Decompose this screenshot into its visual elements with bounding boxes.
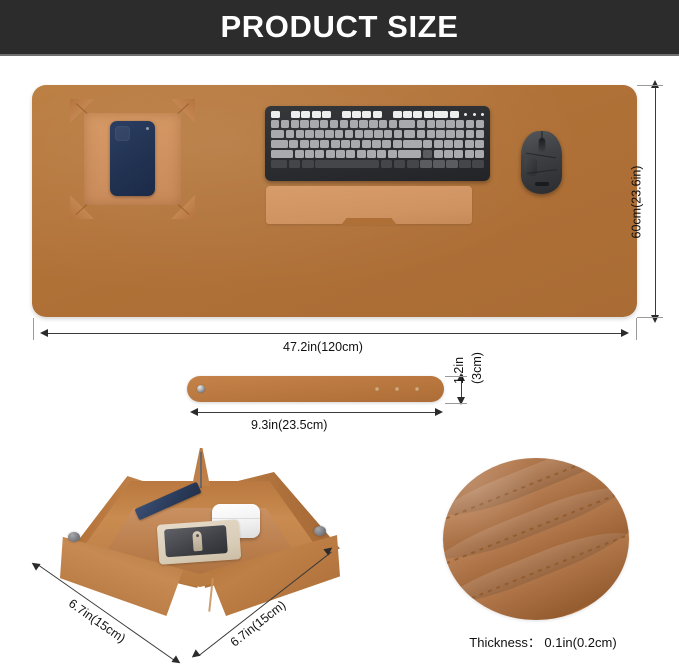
gaming-mouse <box>521 131 562 194</box>
keyboard-led-2 <box>473 113 476 116</box>
deskmat-height-tick-top <box>637 85 663 86</box>
strap-image <box>187 376 444 402</box>
strap-width-label: 9.3in(23.5cm) <box>251 418 327 432</box>
keyboard-home-row <box>271 140 484 148</box>
strap-hole-3 <box>415 387 419 391</box>
card-wallet-window <box>164 525 228 557</box>
smartphone <box>110 121 155 196</box>
strap-section: 1.2in (3cm) 9.3in(23.5cm) <box>0 358 679 436</box>
tray-thickness-section: 6.7in(15cm) 6.7in(15cm) Thickness： 0.1in… <box>0 440 679 663</box>
thickness-label: Thickness： 0.1in(0.2cm) <box>443 632 643 651</box>
keyboard-shift-row <box>271 150 484 158</box>
deskmat-height-tick-bottom <box>637 317 663 318</box>
thickness-closeup-image <box>443 458 629 620</box>
deskmat-height-arrow-top <box>651 80 659 88</box>
wrist-rest-notch <box>341 218 397 225</box>
strap-width-dim-line <box>198 412 435 413</box>
wrist-rest-area <box>266 186 472 224</box>
strap-hole-2 <box>395 387 399 391</box>
tray-snap-left <box>68 532 80 542</box>
header-banner: PRODUCT SIZE <box>0 0 679 54</box>
deskmat-section: 60cm(23.6in) 47.2in(120cm) <box>0 56 679 356</box>
deskmat-width-label: 47.2in(120cm) <box>283 340 363 354</box>
strap-width-arrow-right <box>435 408 443 416</box>
deskmat-width-arrow-right <box>621 329 629 337</box>
keyboard-number-row <box>271 120 484 128</box>
deskmat-height-label: 60cm(23.6in) <box>629 166 643 239</box>
mouse-logo <box>535 182 549 186</box>
strap-hole-1 <box>375 387 379 391</box>
page-title: PRODUCT SIZE <box>221 9 459 45</box>
keyboard-led-3 <box>481 113 484 116</box>
keyboard <box>265 106 490 181</box>
valet-tray-image <box>50 448 350 628</box>
tray-left-arrow-start <box>29 559 40 570</box>
snap-button-icon <box>197 385 205 393</box>
card-wallet <box>157 519 242 565</box>
strap-width-arrow-left <box>190 408 198 416</box>
phone-flash-icon <box>146 127 149 130</box>
strap-height-label-line2: (3cm) <box>470 352 484 384</box>
tray-apex-seam <box>200 452 202 488</box>
deskmat-width-tick-left <box>33 318 34 340</box>
mat-valet-tray <box>70 99 195 219</box>
key-hole <box>195 534 198 537</box>
mouse-button-split <box>541 131 542 138</box>
key <box>192 531 202 552</box>
thickness-highlight <box>443 458 540 545</box>
deskmat-height-dim-line <box>655 87 656 315</box>
deskmat-width-tick-right <box>636 318 637 340</box>
keyboard-qwerty-row <box>271 130 484 138</box>
deskmat-width-dim-line <box>48 333 621 334</box>
tray-left-arrow-end <box>171 655 182 666</box>
keyboard-fn-row <box>271 111 484 118</box>
keyboard-led-1 <box>464 113 467 116</box>
deskmat-width-arrow-left <box>40 329 48 337</box>
strap-height-label-line1: 1.2in <box>452 357 466 384</box>
phone-camera-icon <box>115 126 130 141</box>
deskmat-image <box>32 85 637 317</box>
strap-height-tick-bottom <box>445 403 467 404</box>
tray-right-arrow-start <box>189 649 200 660</box>
keyboard-bottom-row <box>271 160 484 168</box>
mouse-scroll-wheel <box>539 138 545 151</box>
tray-snap-right <box>314 526 326 536</box>
